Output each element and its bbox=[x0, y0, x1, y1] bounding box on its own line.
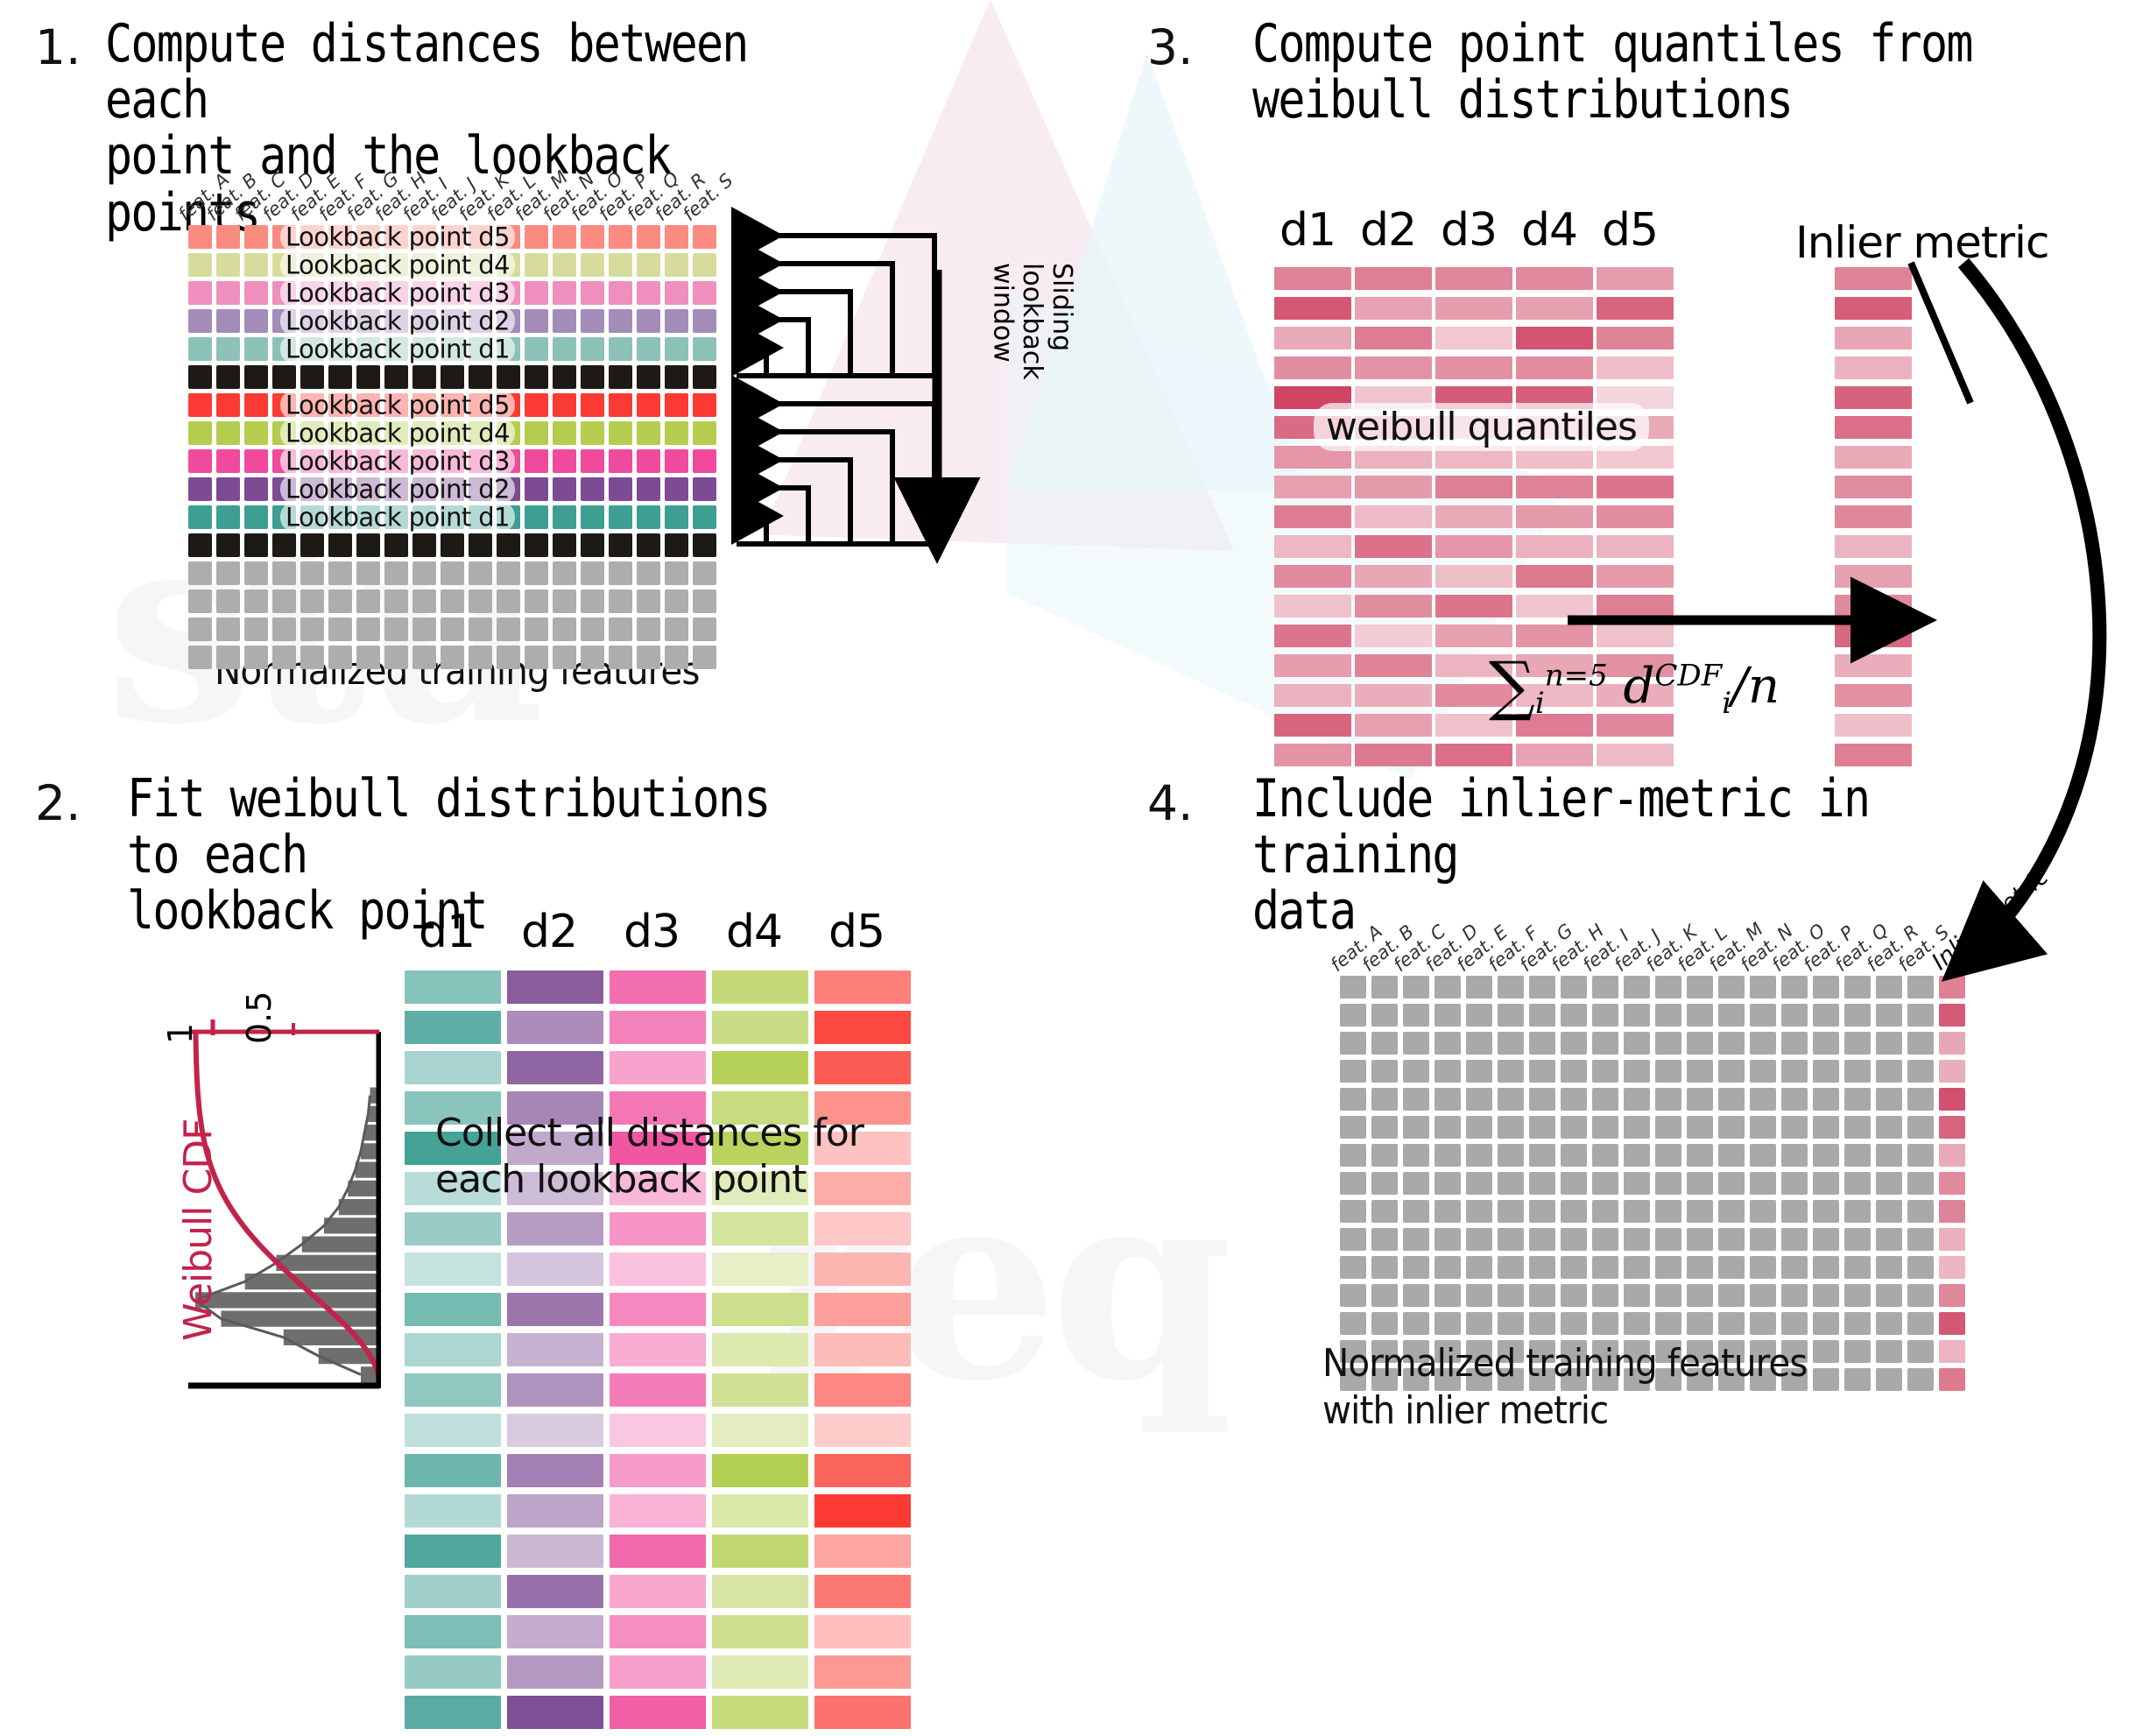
table-row bbox=[1340, 1172, 1965, 1195]
matrix-cell bbox=[525, 365, 548, 389]
quantile-bar bbox=[1274, 565, 1351, 588]
matrix-cell bbox=[469, 365, 492, 389]
lookback-row: Lookback point d1 bbox=[188, 337, 716, 361]
distance-bar bbox=[712, 1454, 808, 1487]
matrix-cell bbox=[300, 646, 324, 669]
quantile-bar bbox=[1435, 476, 1512, 498]
matrix-cell bbox=[525, 337, 548, 361]
matrix-cell bbox=[469, 561, 492, 585]
matrix-cell bbox=[356, 589, 380, 613]
distance-bar bbox=[610, 1253, 706, 1286]
matrix-cell bbox=[1435, 1312, 1461, 1335]
matrix-cell bbox=[188, 505, 212, 529]
matrix-cell bbox=[244, 477, 268, 501]
matrix-cell bbox=[1876, 1200, 1902, 1223]
matrix-cell bbox=[188, 309, 212, 333]
distance-bar bbox=[712, 1575, 808, 1608]
lookback-bracket bbox=[737, 432, 892, 544]
matrix-cell bbox=[1403, 1116, 1429, 1139]
quantile-bar bbox=[1516, 297, 1593, 320]
matrix-cell bbox=[384, 561, 408, 585]
matrix-cell bbox=[216, 477, 240, 501]
matrix-cell bbox=[1876, 1060, 1902, 1083]
matrix-cell bbox=[1750, 1284, 1776, 1307]
matrix-cell bbox=[1466, 1284, 1492, 1307]
matrix-cell bbox=[525, 449, 548, 473]
matrix-cell bbox=[1844, 1060, 1871, 1083]
matrix-cell bbox=[1624, 1088, 1650, 1111]
matrix-cell bbox=[1844, 1116, 1871, 1139]
matrix-cell bbox=[1844, 1256, 1871, 1279]
matrix-cell bbox=[1561, 1284, 1587, 1307]
collect-distances-note: Collect all distances for each lookback … bbox=[435, 1111, 864, 1203]
inlier-formula: ∑in=5 dCDFi/n bbox=[1489, 648, 1780, 723]
matrix-cell bbox=[412, 365, 436, 389]
quantile-bar bbox=[1597, 505, 1674, 528]
matrix-cell bbox=[384, 617, 408, 641]
matrix-cell bbox=[1781, 1060, 1808, 1083]
matrix-cell bbox=[1687, 1144, 1713, 1167]
lookback-bracket bbox=[737, 264, 892, 376]
matrix-cell bbox=[188, 281, 212, 305]
matrix-cell bbox=[188, 365, 212, 389]
distance-bar bbox=[814, 1414, 911, 1447]
step-3-title: Compute point quantiles from weibull dis… bbox=[1252, 16, 2006, 128]
matrix-cell bbox=[1624, 1172, 1650, 1195]
quantile-bar bbox=[1355, 565, 1432, 588]
matrix-cell bbox=[1844, 1032, 1871, 1055]
lookback-row: Lookback point d2 bbox=[188, 477, 716, 501]
matrix-cell bbox=[665, 561, 688, 585]
matrix-cell bbox=[272, 561, 296, 585]
matrix-cell bbox=[1340, 1256, 1366, 1279]
matrix-cell bbox=[497, 589, 520, 613]
matrix-cell bbox=[1813, 1340, 1839, 1363]
cdf-histogram-bar bbox=[195, 1292, 379, 1308]
quantile-bar bbox=[1516, 744, 1593, 766]
quantile-bar bbox=[1355, 744, 1432, 766]
table-row bbox=[1340, 1116, 1965, 1139]
matrix-cell bbox=[1750, 1004, 1776, 1027]
distance-bar bbox=[712, 970, 808, 1004]
matrix-cell bbox=[1876, 1004, 1902, 1027]
matrix-cell bbox=[609, 309, 632, 333]
distance-bar bbox=[712, 1373, 808, 1407]
matrix-cell bbox=[525, 505, 548, 529]
panel-4-feature-labels: feat. Afeat. Bfeat. Cfeat. Dfeat. Efeat.… bbox=[1340, 921, 1965, 976]
distance-bar bbox=[712, 1494, 808, 1528]
cdf-histogram-bar bbox=[221, 1311, 379, 1327]
matrix-cell bbox=[1592, 1200, 1618, 1223]
matrix-cell bbox=[665, 309, 688, 333]
matrix-cell bbox=[1529, 1032, 1555, 1055]
matrix-cell bbox=[216, 449, 240, 473]
matrix-cell bbox=[1466, 1312, 1492, 1335]
matrix-cell bbox=[1718, 1172, 1745, 1195]
matrix-cell bbox=[1592, 1032, 1618, 1055]
matrix-cell bbox=[693, 477, 716, 501]
lookback-row-label: Lookback point d5 bbox=[280, 222, 515, 251]
matrix-cell bbox=[665, 337, 688, 361]
quantile-bar bbox=[1516, 327, 1593, 349]
matrix-cell bbox=[609, 225, 632, 249]
matrix-cell bbox=[1718, 976, 1745, 999]
distance-bar bbox=[405, 1414, 501, 1447]
matrix-cell bbox=[693, 253, 716, 277]
matrix-cell bbox=[665, 617, 688, 641]
panel-1-feature-matrix: feat. Afeat. Bfeat. Cfeat. Dfeat. Efeat.… bbox=[188, 171, 716, 674]
distance-bar bbox=[507, 1414, 603, 1447]
matrix-cell bbox=[1561, 1312, 1587, 1335]
quantile-bar bbox=[1516, 505, 1593, 528]
matrix-cell bbox=[244, 617, 268, 641]
matrix-cell bbox=[1561, 1060, 1587, 1083]
distance-bar bbox=[712, 1051, 808, 1084]
matrix-cell bbox=[328, 533, 352, 557]
matrix-cell bbox=[1876, 1116, 1902, 1139]
matrix-cell bbox=[1435, 1172, 1461, 1195]
matrix-cell bbox=[1781, 1032, 1808, 1055]
matrix-cell bbox=[1340, 1032, 1366, 1055]
matrix-cell bbox=[1624, 1004, 1650, 1027]
quantile-bar bbox=[1274, 684, 1351, 707]
matrix-cell bbox=[412, 589, 436, 613]
matrix-cell bbox=[1498, 1004, 1524, 1027]
matrix-cell bbox=[693, 561, 716, 585]
distance-bar bbox=[405, 1333, 501, 1366]
matrix-cell bbox=[1371, 976, 1398, 999]
matrix-cell bbox=[1813, 1256, 1839, 1279]
matrix-cell bbox=[412, 533, 436, 557]
formula-sum-upper: n=5 bbox=[1545, 658, 1608, 693]
anchor-row bbox=[188, 365, 716, 389]
panel-2-distance-column bbox=[610, 970, 706, 1736]
matrix-cell bbox=[525, 561, 548, 585]
matrix-cell bbox=[1466, 1116, 1492, 1139]
matrix-cell bbox=[216, 533, 240, 557]
matrix-cell bbox=[1655, 1228, 1681, 1251]
matrix-cell bbox=[1498, 1228, 1524, 1251]
inlier-metric-bar bbox=[1835, 744, 1912, 766]
lookback-row-label: Lookback point d2 bbox=[280, 306, 515, 335]
matrix-cell bbox=[441, 589, 464, 613]
distance-bar bbox=[405, 1615, 501, 1648]
distance-bar bbox=[610, 1212, 706, 1246]
matrix-cell bbox=[1466, 1200, 1492, 1223]
quantile-bar bbox=[1597, 356, 1674, 379]
matrix-cell bbox=[1907, 1172, 1934, 1195]
distance-bar bbox=[405, 1575, 501, 1608]
matrix-cell bbox=[1624, 1032, 1650, 1055]
matrix-cell bbox=[216, 589, 240, 613]
matrix-cell bbox=[1592, 1144, 1618, 1167]
matrix-cell bbox=[1781, 1144, 1808, 1167]
inlier-metric-heading: Inlier metric bbox=[1795, 217, 2048, 268]
matrix-cell bbox=[1844, 1284, 1871, 1307]
inlier-metric-cell bbox=[1939, 1256, 1965, 1279]
inlier-metric-bar bbox=[1835, 535, 1912, 558]
matrix-cell bbox=[693, 421, 716, 445]
matrix-cell bbox=[497, 561, 520, 585]
matrix-cell bbox=[1907, 1032, 1934, 1055]
lookback-bracket bbox=[737, 348, 766, 376]
table-row bbox=[1340, 1144, 1965, 1167]
matrix-cell bbox=[1340, 1200, 1366, 1223]
matrix-cell bbox=[1750, 1032, 1776, 1055]
matrix-cell bbox=[1813, 1116, 1839, 1139]
matrix-cell bbox=[1561, 1116, 1587, 1139]
matrix-cell bbox=[1371, 1004, 1398, 1027]
matrix-cell bbox=[1813, 1284, 1839, 1307]
step-3-number: 3. bbox=[1147, 19, 1193, 75]
matrix-cell bbox=[1403, 1228, 1429, 1251]
matrix-cell bbox=[1781, 1200, 1808, 1223]
matrix-cell bbox=[1435, 1060, 1461, 1083]
distance-bar bbox=[814, 1535, 911, 1568]
matrix-cell bbox=[525, 253, 548, 277]
distance-bar bbox=[507, 1051, 603, 1084]
matrix-cell bbox=[1718, 1032, 1745, 1055]
formula-subscript: i bbox=[1722, 686, 1731, 721]
formula-tail: /n bbox=[1731, 658, 1780, 715]
quantile-bar bbox=[1597, 625, 1674, 647]
matrix-cell bbox=[356, 617, 380, 641]
matrix-cell bbox=[665, 589, 688, 613]
matrix-cell bbox=[693, 365, 716, 389]
matrix-cell bbox=[665, 281, 688, 305]
matrix-cell bbox=[1813, 1312, 1839, 1335]
matrix-cell bbox=[1687, 1116, 1713, 1139]
distance-bar bbox=[507, 970, 603, 1004]
matrix-cell bbox=[1371, 1284, 1398, 1307]
distance-bar bbox=[814, 1696, 911, 1729]
table-row bbox=[1340, 1256, 1965, 1279]
matrix-cell bbox=[693, 589, 716, 613]
distance-bar bbox=[507, 1655, 603, 1689]
table-row bbox=[1340, 1312, 1965, 1335]
matrix-cell bbox=[1750, 1088, 1776, 1111]
matrix-cell bbox=[637, 309, 660, 333]
matrix-cell bbox=[216, 617, 240, 641]
matrix-cell bbox=[609, 533, 632, 557]
lookback-bracket bbox=[737, 516, 766, 544]
matrix-cell bbox=[188, 225, 212, 249]
distance-bar bbox=[610, 1373, 706, 1407]
matrix-cell bbox=[609, 617, 632, 641]
matrix-cell bbox=[216, 337, 240, 361]
matrix-cell bbox=[1371, 1116, 1398, 1139]
matrix-cell bbox=[1907, 1228, 1934, 1251]
matrix-cell bbox=[441, 646, 464, 669]
quantile-bar bbox=[1597, 744, 1674, 766]
matrix-cell bbox=[525, 281, 548, 305]
quantile-bar bbox=[1516, 535, 1593, 558]
inlier-metric-bar bbox=[1835, 386, 1912, 409]
formula-body: d bbox=[1624, 658, 1655, 715]
cdf-tick-1: 1 bbox=[161, 1023, 200, 1044]
distance-bar bbox=[405, 1655, 501, 1689]
quantile-bar bbox=[1274, 535, 1351, 558]
distance-bar bbox=[610, 1615, 706, 1648]
matrix-cell bbox=[1907, 1312, 1934, 1335]
distance-bar bbox=[405, 1373, 501, 1407]
matrix-cell bbox=[328, 646, 352, 669]
matrix-cell bbox=[497, 533, 520, 557]
matrix-cell bbox=[553, 589, 576, 613]
matrix-cell bbox=[1498, 1172, 1524, 1195]
matrix-cell bbox=[216, 225, 240, 249]
matrix-cell bbox=[1498, 1256, 1524, 1279]
quantile-bar bbox=[1274, 297, 1351, 320]
quantile-bar bbox=[1355, 684, 1432, 707]
matrix-cell bbox=[1907, 976, 1934, 999]
distance-bar bbox=[814, 1011, 911, 1044]
matrix-cell bbox=[469, 589, 492, 613]
matrix-cell bbox=[553, 646, 576, 669]
matrix-cell bbox=[1907, 1200, 1934, 1223]
matrix-cell bbox=[1403, 976, 1429, 999]
matrix-cell bbox=[1813, 1144, 1839, 1167]
matrix-cell bbox=[1655, 1284, 1681, 1307]
matrix-cell bbox=[1371, 1172, 1398, 1195]
matrix-cell bbox=[1718, 1256, 1745, 1279]
matrix-cell bbox=[1371, 1032, 1398, 1055]
matrix-cell bbox=[1371, 1228, 1398, 1251]
matrix-cell bbox=[1655, 976, 1681, 999]
matrix-cell bbox=[637, 421, 660, 445]
panel-2-column-label: d5 bbox=[828, 906, 885, 958]
quantile-bar bbox=[1355, 267, 1432, 290]
inlier-metric-bar bbox=[1835, 327, 1912, 349]
quantile-bar bbox=[1516, 595, 1593, 617]
inlier-leader-line bbox=[1911, 263, 1970, 403]
matrix-cell bbox=[1371, 1256, 1398, 1279]
matrix-cell bbox=[1403, 1088, 1429, 1111]
matrix-cell bbox=[581, 533, 604, 557]
matrix-cell bbox=[1844, 1004, 1871, 1027]
matrix-cell bbox=[1403, 1060, 1429, 1083]
matrix-cell bbox=[1813, 1228, 1839, 1251]
matrix-cell bbox=[637, 365, 660, 389]
matrix-cell bbox=[1624, 1228, 1650, 1251]
quantile-bar bbox=[1597, 595, 1674, 617]
matrix-cell bbox=[1907, 1256, 1934, 1279]
matrix-cell bbox=[1781, 1088, 1808, 1111]
quantile-bar bbox=[1435, 595, 1512, 617]
cdf-histogram-bar bbox=[324, 1217, 379, 1233]
distance-bar bbox=[610, 1494, 706, 1528]
matrix-cell bbox=[1403, 1032, 1429, 1055]
matrix-cell bbox=[1624, 1256, 1650, 1279]
matrix-cell bbox=[1781, 1004, 1808, 1027]
quantile-bar bbox=[1274, 625, 1351, 647]
matrix-cell bbox=[637, 477, 660, 501]
matrix-cell bbox=[1498, 1060, 1524, 1083]
matrix-cell bbox=[1813, 1200, 1839, 1223]
matrix-cell bbox=[1876, 1172, 1902, 1195]
distance-bar bbox=[814, 1615, 911, 1648]
matrix-cell bbox=[1529, 1004, 1555, 1027]
matrix-cell bbox=[525, 421, 548, 445]
distance-bar bbox=[405, 1535, 501, 1568]
matrix-cell bbox=[1718, 1228, 1745, 1251]
feature-row bbox=[188, 589, 716, 613]
feature-row bbox=[188, 646, 716, 669]
lookback-row-label: Lookback point d1 bbox=[280, 502, 515, 532]
matrix-cell bbox=[1371, 1088, 1398, 1111]
matrix-cell bbox=[1466, 1144, 1492, 1167]
matrix-cell bbox=[609, 561, 632, 585]
matrix-cell bbox=[1718, 1144, 1745, 1167]
matrix-cell bbox=[244, 337, 268, 361]
matrix-cell bbox=[1435, 1284, 1461, 1307]
matrix-cell bbox=[1907, 1088, 1934, 1111]
matrix-cell bbox=[1340, 976, 1366, 999]
inlier-metric-cell bbox=[1939, 1004, 1965, 1027]
distance-bar bbox=[814, 1655, 911, 1689]
quantile-bar bbox=[1274, 744, 1351, 766]
distance-bar bbox=[405, 1253, 501, 1286]
panel-2-distance-column bbox=[405, 970, 501, 1736]
matrix-cell bbox=[1750, 1256, 1776, 1279]
matrix-cell bbox=[1718, 1200, 1745, 1223]
matrix-cell bbox=[441, 365, 464, 389]
matrix-cell bbox=[1529, 1312, 1555, 1335]
matrix-cell bbox=[188, 589, 212, 613]
inlier-metric-bar bbox=[1835, 714, 1912, 737]
matrix-cell bbox=[1592, 1172, 1618, 1195]
matrix-cell bbox=[1371, 1312, 1398, 1335]
matrix-cell bbox=[1813, 1004, 1839, 1027]
formula-sum-lower: i bbox=[1535, 686, 1545, 721]
lookback-row-label: Lookback point d2 bbox=[280, 474, 515, 504]
matrix-cell bbox=[1781, 1312, 1808, 1335]
matrix-cell bbox=[609, 253, 632, 277]
lookback-bracket bbox=[737, 320, 808, 376]
matrix-cell bbox=[665, 421, 688, 445]
matrix-cell bbox=[1498, 976, 1524, 999]
matrix-cell bbox=[469, 533, 492, 557]
quantile-bar bbox=[1355, 714, 1432, 737]
matrix-cell bbox=[1750, 1060, 1776, 1083]
matrix-cell bbox=[497, 646, 520, 669]
quantile-bar bbox=[1274, 714, 1351, 737]
matrix-cell bbox=[1529, 1200, 1555, 1223]
inlier-metric-cell bbox=[1939, 1172, 1965, 1195]
matrix-cell bbox=[272, 365, 296, 389]
matrix-cell bbox=[1687, 976, 1713, 999]
panel-2-column-label: d3 bbox=[624, 906, 680, 958]
matrix-cell bbox=[1592, 1228, 1618, 1251]
lookback-row: Lookback point d3 bbox=[188, 281, 716, 305]
matrix-cell bbox=[609, 477, 632, 501]
distance-bar bbox=[610, 1454, 706, 1487]
distance-bar bbox=[507, 1293, 603, 1326]
matrix-cell bbox=[328, 589, 352, 613]
matrix-cell bbox=[525, 225, 548, 249]
distance-bar bbox=[507, 1615, 603, 1648]
matrix-cell bbox=[300, 617, 324, 641]
matrix-cell bbox=[216, 646, 240, 669]
matrix-cell bbox=[1907, 1284, 1934, 1307]
matrix-cell bbox=[412, 561, 436, 585]
matrix-cell bbox=[1466, 976, 1492, 999]
distance-bar bbox=[610, 1333, 706, 1366]
distance-bar bbox=[712, 1655, 808, 1689]
panel-4-caption: Normalized training features with inlier… bbox=[1322, 1340, 1808, 1434]
matrix-cell bbox=[384, 589, 408, 613]
distance-bar bbox=[507, 1454, 603, 1487]
